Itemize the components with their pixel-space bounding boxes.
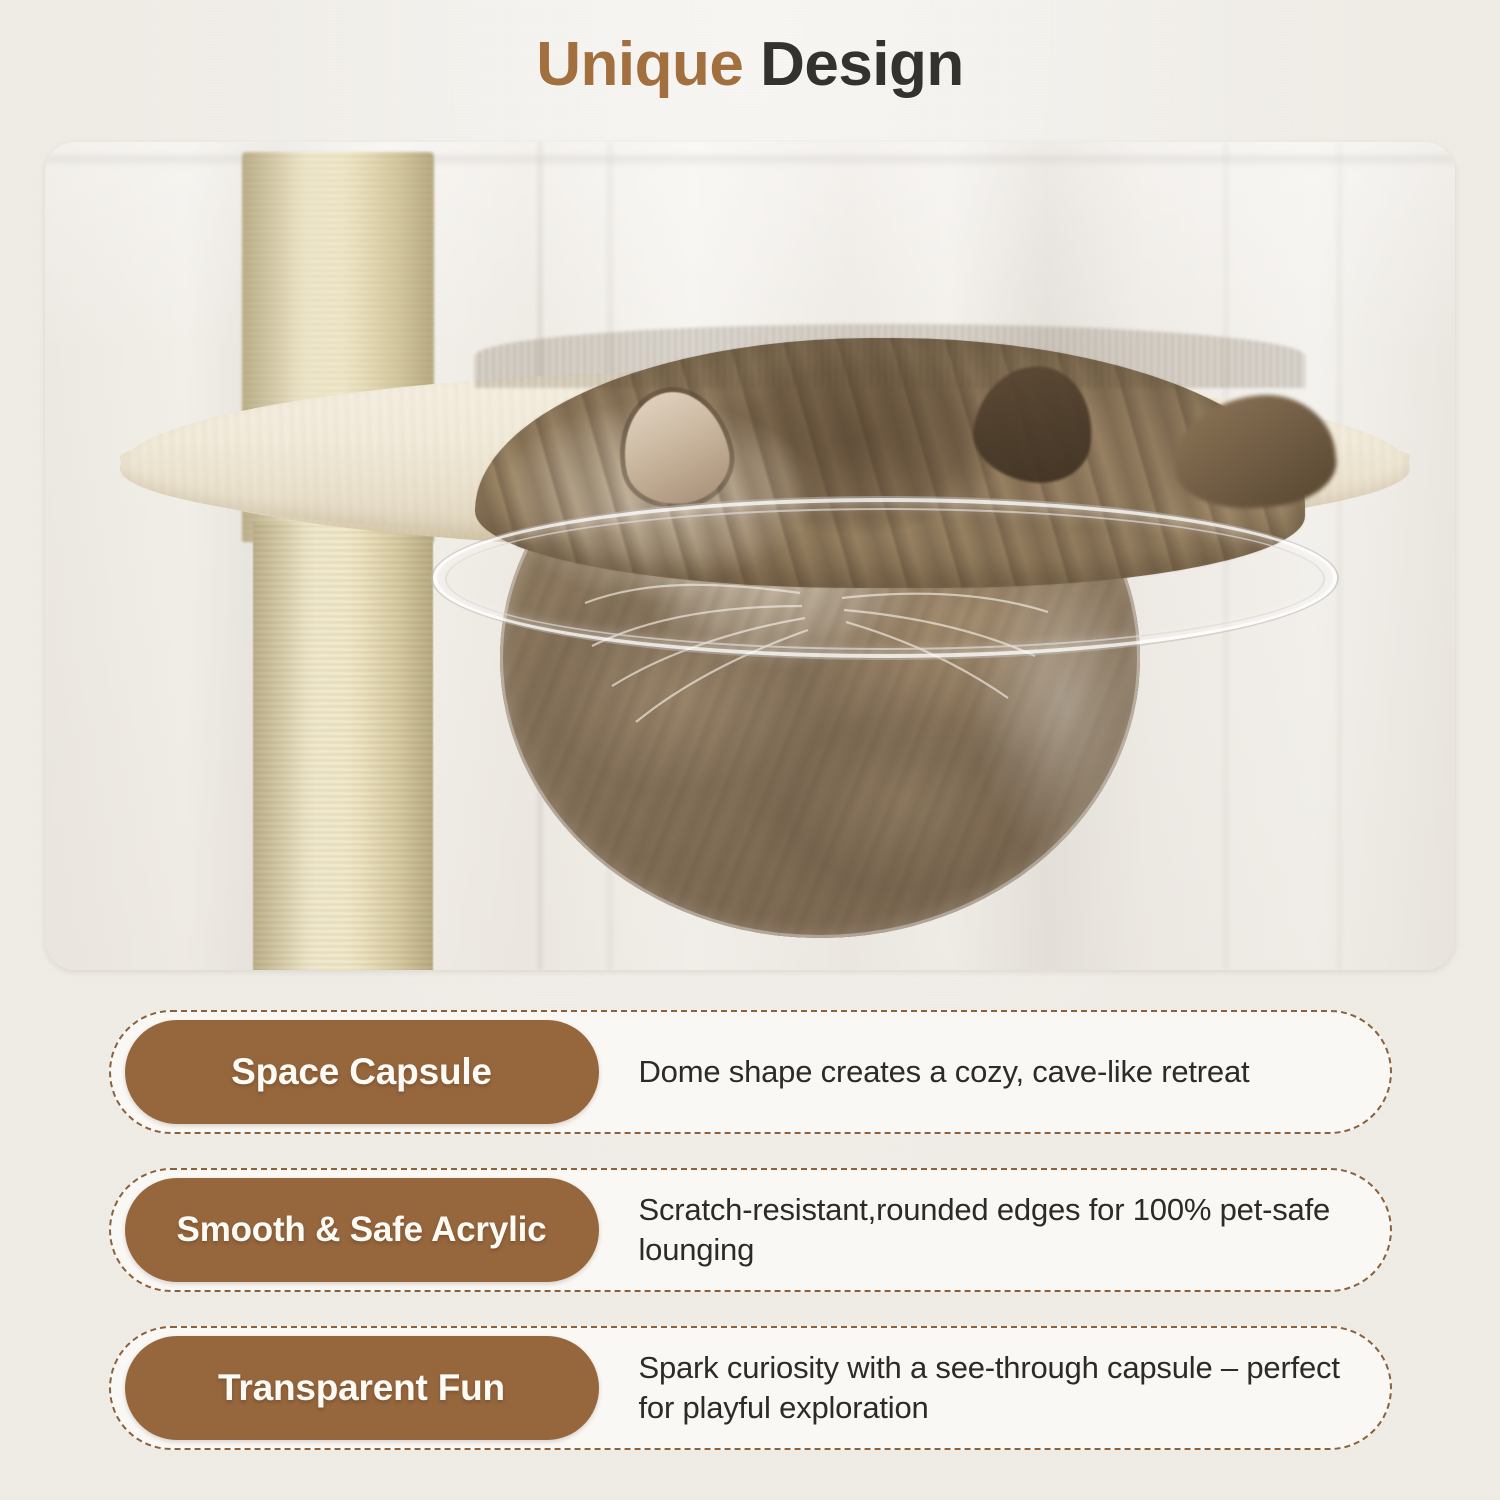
feature-label-pill: Transparent Fun <box>125 1336 599 1440</box>
feature-description: Dome shape creates a cozy, cave-like ret… <box>639 1010 1344 1134</box>
feature-description: Spark curiosity with a see-through capsu… <box>639 1326 1344 1450</box>
feature-row: Space Capsule Dome shape creates a cozy,… <box>109 1010 1392 1134</box>
feature-label-text: Smooth & Safe Acrylic <box>177 1210 547 1250</box>
header: Unique Design <box>0 0 1500 130</box>
feature-list: Space Capsule Dome shape creates a cozy,… <box>0 1010 1500 1450</box>
feature-label-text: Transparent Fun <box>218 1367 505 1409</box>
feature-label-pill: Space Capsule <box>125 1020 599 1124</box>
feature-label-text: Space Capsule <box>231 1051 492 1093</box>
page-title-dark: Design <box>760 30 964 99</box>
feature-label-pill: Smooth & Safe Acrylic <box>125 1178 599 1282</box>
feature-row: Transparent Fun Spark curiosity with a s… <box>109 1326 1392 1450</box>
page-title-accent: Unique <box>536 30 743 99</box>
feature-row: Smooth & Safe Acrylic Scratch-resistant,… <box>109 1168 1392 1292</box>
feature-description: Scratch-resistant,rounded edges for 100%… <box>639 1168 1344 1292</box>
sisal-rope-post-lower <box>253 522 433 970</box>
page-title: Unique Design <box>536 34 964 96</box>
product-photo <box>45 142 1455 970</box>
